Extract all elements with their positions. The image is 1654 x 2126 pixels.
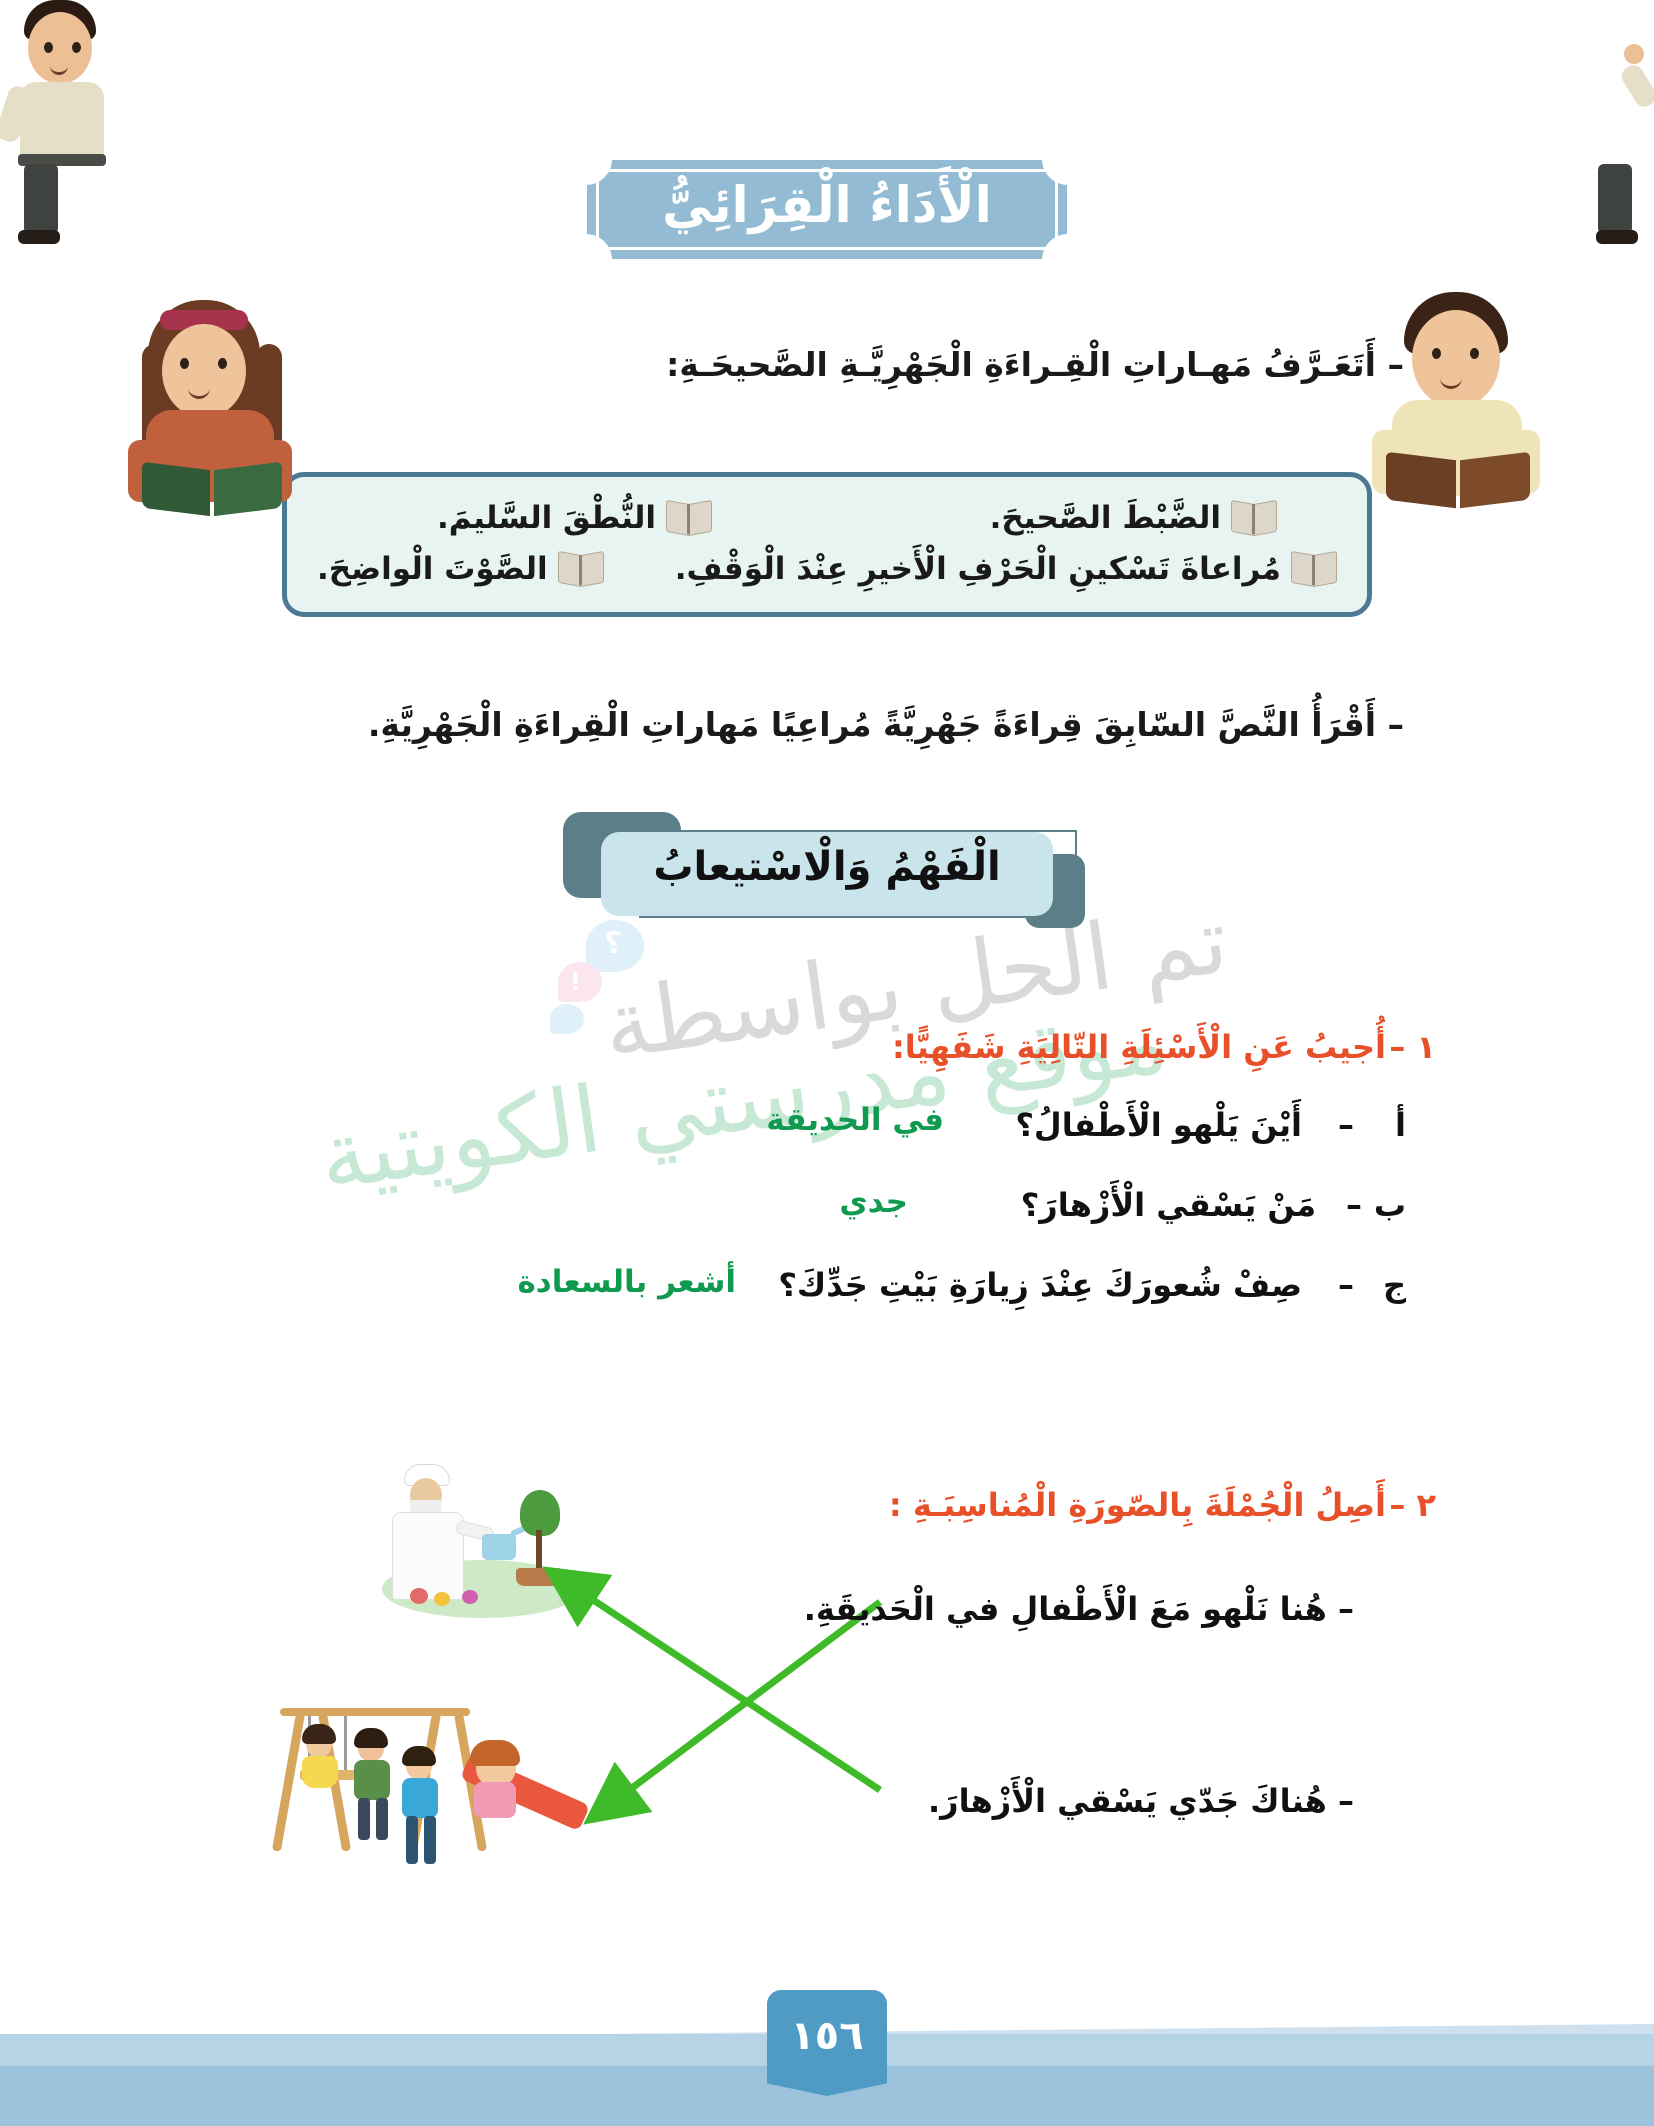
question-2-sentence-2[interactable]: – هُناكَ جَدّي يَسْقي الْأَزْهارَ.: [928, 1782, 1354, 1820]
open-book-icon: [558, 553, 604, 585]
open-book-icon: [666, 502, 712, 534]
banner-corner-bottom-right-icon: [1042, 234, 1068, 260]
page-title-banner-wrap: الْأَدَاءُ الْقِرَائِيُّ: [0, 160, 1654, 259]
question-1-item-a-dash: –: [1338, 1106, 1354, 1144]
reading-skills-box: الضَّبْطَ الصَّحيحَ. النُّطْقَ السَّليمَ…: [282, 472, 1372, 617]
question-1-item-b-letter: ب: [1374, 1186, 1406, 1224]
image-grandfather-watering[interactable]: [370, 1460, 590, 1630]
question-1-item-b-dash: –: [1346, 1186, 1362, 1224]
page-number-tab: ١٥٦: [767, 1990, 887, 2082]
section-comprehension-header-wrap: الْفَهْمُ وَالْاسْتيعابُ: [0, 818, 1654, 932]
skills-row-2: مُراعاةَ تَسْكينِ الْحَرْفِ الْأَخيرِ عِ…: [317, 542, 1337, 593]
question-2-sentence-1[interactable]: – هُنا نَلْهو مَعَ الْأَطْفالِ في الْحَد…: [804, 1590, 1354, 1628]
skill-sound-pronunciation: النُّطْقَ السَّليمَ.: [437, 495, 712, 542]
skill-label-last-letter-sukoon: مُراعاةَ تَسْكينِ الْحَرْفِ الْأَخيرِ عِ…: [675, 546, 1281, 593]
question-1-item-b-answer[interactable]: جدي: [839, 1184, 908, 1220]
page-number: ١٥٦: [790, 2013, 863, 2059]
illustration-girl-reading: [120, 300, 300, 515]
skills-row-1: الضَّبْطَ الصَّحيحَ. النُّطْقَ السَّليمَ…: [317, 495, 1337, 542]
textbook-page: ؟ ! تم الحل بواسطة موقع مدرستي الكويتية …: [0, 0, 1654, 2126]
skill-last-letter-sukoon: مُراعاةَ تَسْكينِ الْحَرْفِ الْأَخيرِ عِ…: [675, 546, 1337, 593]
skill-label-correct-vowelling: الضَّبْطَ الصَّحيحَ.: [990, 495, 1221, 542]
page-title-banner: الْأَدَاءُ الْقِرَائِيُّ: [587, 160, 1067, 259]
question-1-item-c-text: صِفْ شُعورَكَ عِنْدَ زِيارَةِ بَيْتِ جَد…: [778, 1266, 1302, 1304]
section-comprehension-header: الْفَهْمُ وَالْاسْتيعابُ: [577, 818, 1077, 928]
page-title: الْأَدَاءُ الْقِرَائِيُّ: [657, 174, 997, 237]
question-1-item-c-answer[interactable]: أشعر بالسعادة: [518, 1264, 737, 1300]
instruction-read-aloud: – أَقْرَأُ النَّصَّ السّابِقَ قِراءَةً ج…: [368, 700, 1404, 750]
skill-label-sound-pronunciation: النُّطْقَ السَّليمَ.: [437, 495, 656, 542]
skill-clear-voice: الصَّوْتَ الْواضِحَ.: [317, 546, 604, 593]
question-1-prompt: أُجيبُ عَنِ الْأَسْئِلَةِ التّالِيَةِ شَ…: [892, 1028, 1386, 1066]
question-2-number: ٢ –: [1389, 1486, 1436, 1524]
section-title: الْفَهْمُ وَالْاسْتيعابُ: [577, 844, 1077, 890]
watermark-line-2: موقع مدرستي الكويتية: [313, 986, 1174, 1211]
skill-correct-vowelling: الضَّبْطَ الصَّحيحَ.: [990, 495, 1277, 542]
question-2-prompt: أَصِلُ الْجُمْلَةَ بِالصّورَةِ الْمُناسِ…: [889, 1486, 1386, 1524]
question-1-item-b-text: مَنْ يَسْقي الْأَزْهارَ؟: [1021, 1186, 1316, 1224]
question-1-item-a-text: أَيْنَ يَلْهو الْأَطْفالُ؟: [1015, 1106, 1302, 1144]
arrow-sentence1-to-playground: [600, 1602, 880, 1812]
banner-corner-bottom-left-icon: [586, 234, 612, 260]
question-1-item-c-letter: ج: [1383, 1266, 1406, 1304]
banner-corner-top-left-icon: [586, 159, 612, 185]
question-1-number: ١ –: [1389, 1028, 1436, 1066]
instruction-learn-skills: – أَتَعَـرَّفُ مَهـاراتِ الْقِـراءَةِ ال…: [666, 340, 1404, 390]
question-1-item-a-answer[interactable]: في الحديقة: [766, 1102, 944, 1138]
illustration-boy-reading: [1366, 292, 1546, 512]
skill-label-clear-voice: الصَّوْتَ الْواضِحَ.: [317, 546, 548, 593]
banner-corner-top-right-icon: [1042, 159, 1068, 185]
open-book-icon: [1231, 502, 1277, 534]
image-children-playground[interactable]: [270, 1690, 640, 1900]
open-book-icon: [1291, 553, 1337, 585]
question-1-item-a-letter: أ: [1395, 1106, 1406, 1144]
question-1-item-c-dash: –: [1338, 1266, 1354, 1304]
